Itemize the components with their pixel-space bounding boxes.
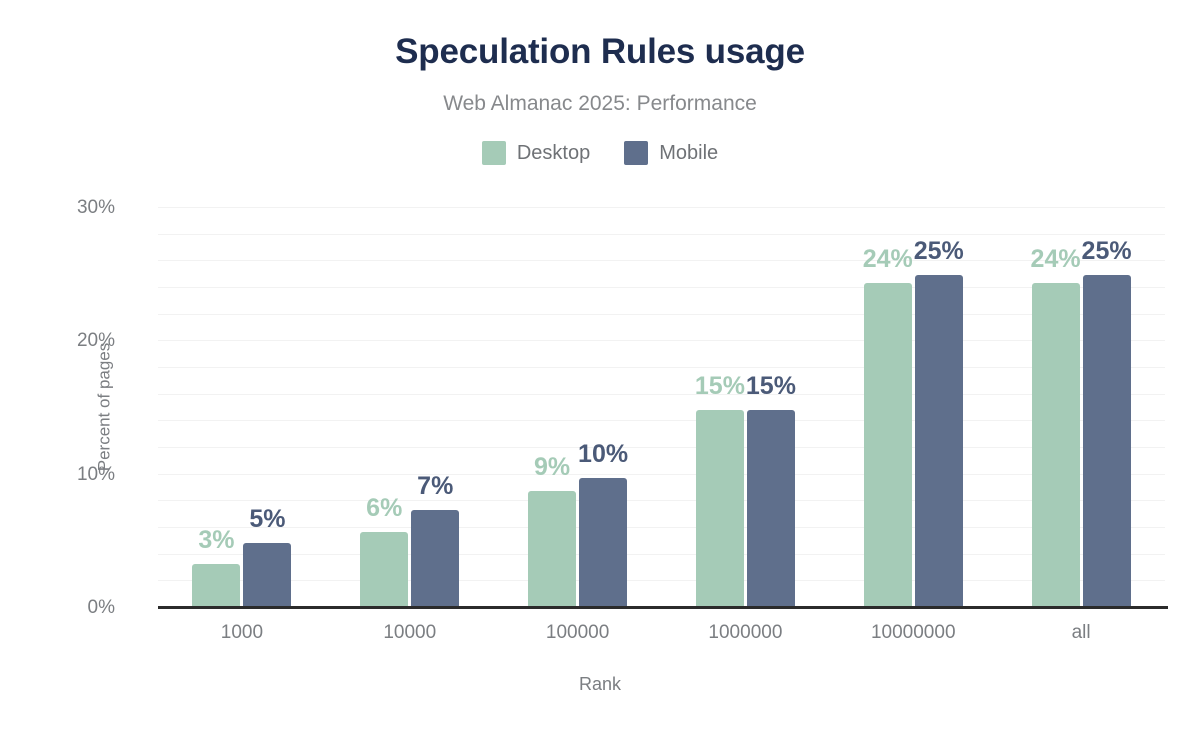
x-axis-title: Rank [0,674,1200,695]
legend-label-desktop: Desktop [517,141,590,165]
gridline [158,447,1165,448]
x-axis-tick-label: 10000000 [871,622,956,644]
gridline [158,554,1165,555]
bar-mobile-10000[interactable] [411,510,459,607]
bar-mobile-1000[interactable] [243,543,291,607]
bar-desktop-100000[interactable] [528,491,576,607]
gridline [158,474,1165,475]
x-axis-line [158,606,1168,609]
bar-label-desktop-1000000: 15% [695,372,745,400]
bar-desktop-10000[interactable] [360,532,408,607]
bar-desktop-1000[interactable] [192,564,240,607]
gridline [158,340,1165,341]
gridline [158,394,1165,395]
legend-label-mobile: Mobile [659,141,718,165]
y-axis-tick-label: 30% [55,198,115,217]
gridline [158,207,1165,208]
chart-subtitle: Web Almanac 2025: Performance [0,90,1200,118]
bar-label-mobile-10000000: 25% [914,237,964,265]
bar-label-desktop-10000: 6% [366,494,402,522]
bar-mobile-100000[interactable] [579,478,627,607]
gridline [158,500,1165,501]
y-axis-tick-label: 0% [55,598,115,617]
bar-mobile-all[interactable] [1083,275,1131,607]
chart-container: Speculation Rules usage Web Almanac 2025… [0,0,1200,742]
x-axis-tick-label: 1000 [221,622,263,644]
y-axis-title: Percent of pages [94,343,114,472]
bar-label-mobile-1000: 5% [249,505,285,533]
bar-label-desktop-10000000: 24% [863,245,913,273]
bar-label-mobile-100000: 10% [578,440,628,468]
bar-label-mobile-all: 25% [1082,237,1132,265]
legend-swatch-desktop [482,141,506,165]
bar-label-desktop-100000: 9% [534,453,570,481]
x-axis-tick-label: 1000000 [708,622,782,644]
bar-desktop-1000000[interactable] [696,410,744,607]
gridline [158,527,1165,528]
gridline [158,420,1165,421]
gridline [158,367,1165,368]
bar-mobile-1000000[interactable] [747,410,795,607]
bar-label-desktop-all: 24% [1031,245,1081,273]
gridline [158,234,1165,235]
x-axis-tick-label: all [1072,622,1091,644]
bar-mobile-10000000[interactable] [915,275,963,607]
bar-label-mobile-10000: 7% [417,472,453,500]
gridline [158,260,1165,261]
legend-item-mobile[interactable]: Mobile [624,141,718,165]
plot-area: 0%10%20%30% Percent of pages 3%5%6%7%9%1… [158,207,1165,607]
gridline [158,314,1165,315]
legend-swatch-mobile [624,141,648,165]
x-axis-tick-label: 10000 [383,622,436,644]
gridline [158,287,1165,288]
bar-desktop-all[interactable] [1032,283,1080,607]
chart-legend: Desktop Mobile [0,141,1200,165]
legend-item-desktop[interactable]: Desktop [482,141,590,165]
x-axis-tick-label: 100000 [546,622,609,644]
bar-desktop-10000000[interactable] [864,283,912,607]
bar-label-desktop-1000: 3% [198,526,234,554]
bar-label-mobile-1000000: 15% [746,372,796,400]
gridline [158,580,1165,581]
chart-title: Speculation Rules usage [0,31,1200,73]
